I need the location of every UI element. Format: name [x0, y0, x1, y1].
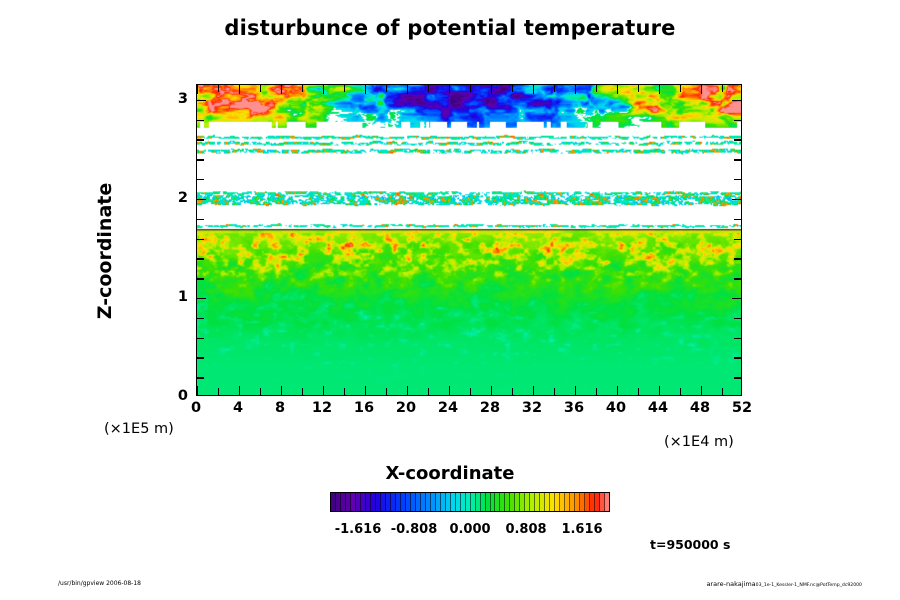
axis-tick	[365, 85, 366, 94]
axis-tick	[701, 386, 702, 395]
axis-tick	[680, 85, 681, 92]
axis-tick	[734, 139, 741, 140]
x-tick-label: 0	[191, 400, 201, 416]
footer-right-detail: 03_1e-1_Kessler-1_NMF.nc@PotTemp_dc92000	[756, 583, 862, 588]
axis-tick	[449, 386, 450, 395]
axis-tick	[323, 386, 324, 395]
axis-tick	[197, 338, 204, 339]
x-tick-label: 44	[648, 400, 668, 416]
heatmap-canvas	[197, 85, 741, 395]
axis-tick	[734, 239, 741, 240]
colorbar-tick-label: 1.616	[561, 522, 602, 537]
footer-right-main: arare-nakajima	[706, 580, 755, 588]
y-axis-unit-note: (×1E5 m)	[104, 421, 174, 437]
axis-tick	[734, 179, 741, 180]
axis-tick	[197, 258, 204, 259]
x-tick-label: 52	[732, 400, 752, 416]
axis-tick	[659, 85, 660, 94]
axis-tick	[680, 388, 681, 395]
axis-tick	[734, 278, 741, 279]
footer-left-text: /usr/bin/gpview 2006-08-18	[58, 580, 141, 587]
colorbar	[330, 492, 610, 512]
axis-tick	[386, 388, 387, 395]
axis-tick	[638, 388, 639, 395]
y-tick-label: 3	[170, 91, 188, 107]
x-tick-label: 12	[312, 400, 332, 416]
axis-tick	[734, 258, 741, 259]
axis-tick	[554, 388, 555, 395]
axis-tick	[365, 386, 366, 395]
axis-tick	[722, 85, 723, 92]
axis-tick	[281, 85, 282, 94]
axis-tick	[239, 386, 240, 395]
axis-tick	[533, 386, 534, 395]
axis-tick	[218, 388, 219, 395]
axis-tick	[732, 298, 741, 299]
x-axis-title: X-coordinate	[0, 463, 900, 484]
axis-tick	[575, 386, 576, 395]
axis-tick	[197, 239, 204, 240]
timestamp-label: t=950000 s	[650, 537, 730, 552]
axis-tick	[596, 388, 597, 395]
x-tick-label: 28	[480, 400, 500, 416]
axis-tick	[407, 85, 408, 94]
axis-tick	[197, 298, 206, 299]
axis-tick	[491, 85, 492, 94]
axis-tick	[281, 386, 282, 395]
axis-tick	[659, 386, 660, 395]
axis-tick	[428, 85, 429, 92]
axis-tick	[197, 120, 204, 121]
x-tick-label: 36	[564, 400, 584, 416]
axis-tick	[260, 388, 261, 395]
axis-tick	[197, 278, 204, 279]
x-tick-label: 48	[690, 400, 710, 416]
colorbar-tick-labels: -1.616-0.8080.0000.8081.616	[330, 522, 610, 542]
x-tick-label: 16	[354, 400, 374, 416]
colorbar-tick-label: 0.000	[449, 522, 490, 537]
page-title: disturbunce of potential temperature	[0, 16, 900, 40]
axis-tick	[302, 388, 303, 395]
axis-tick	[701, 85, 702, 94]
colorbar-strip	[330, 492, 610, 512]
axis-tick	[428, 388, 429, 395]
axis-tick	[512, 85, 513, 92]
colorbar-tick-label: 0.808	[505, 522, 546, 537]
axis-tick	[533, 85, 534, 94]
axis-tick	[197, 100, 206, 101]
axis-tick	[512, 388, 513, 395]
colorbar-tick-label: -0.808	[391, 522, 438, 537]
plot-area	[196, 84, 742, 396]
axis-tick	[323, 85, 324, 94]
axis-tick	[734, 377, 741, 378]
axis-tick	[617, 386, 618, 395]
axis-tick	[734, 338, 741, 339]
axis-tick	[386, 85, 387, 92]
axis-tick	[344, 85, 345, 92]
x-tick-label: 4	[233, 400, 243, 416]
axis-tick	[197, 199, 206, 200]
axis-tick	[197, 159, 204, 160]
axis-tick	[722, 388, 723, 395]
x-axis-unit-note: (×1E4 m)	[664, 434, 734, 450]
axis-tick	[239, 85, 240, 94]
axis-tick	[732, 199, 741, 200]
x-tick-label: 32	[522, 400, 542, 416]
axis-tick	[197, 318, 204, 319]
axis-tick	[218, 85, 219, 92]
axis-tick	[617, 85, 618, 94]
axis-tick	[197, 179, 204, 180]
axis-tick	[734, 357, 741, 358]
axis-tick	[732, 100, 741, 101]
axis-tick	[197, 377, 204, 378]
y-tick-label: 1	[170, 289, 188, 305]
axis-tick	[260, 85, 261, 92]
axis-tick	[734, 159, 741, 160]
axis-tick	[638, 85, 639, 92]
axis-tick	[575, 85, 576, 94]
x-tick-label: 20	[396, 400, 416, 416]
axis-tick	[197, 386, 198, 395]
footer-right-text: arare-nakajima03_1e-1_Kessler-1_NMF.nc@P…	[706, 580, 862, 588]
y-tick-label: 0	[170, 388, 188, 404]
axis-tick	[596, 85, 597, 92]
axis-tick	[197, 85, 198, 94]
axis-tick	[470, 388, 471, 395]
axis-tick	[197, 357, 204, 358]
axis-tick	[734, 120, 741, 121]
x-tick-label: 8	[275, 400, 285, 416]
y-axis-title: Z-coordinate	[94, 141, 116, 361]
axis-tick	[197, 139, 204, 140]
axis-tick	[197, 219, 204, 220]
y-tick-label: 2	[170, 190, 188, 206]
axis-tick	[734, 318, 741, 319]
axis-tick	[302, 85, 303, 92]
axis-tick	[449, 85, 450, 94]
axis-tick	[344, 388, 345, 395]
axis-tick	[407, 386, 408, 395]
axis-tick	[734, 219, 741, 220]
colorbar-band	[605, 493, 609, 511]
figure-root: disturbunce of potential temperature 048…	[0, 0, 900, 600]
axis-tick	[470, 85, 471, 92]
axis-tick	[491, 386, 492, 395]
x-tick-label: 40	[606, 400, 626, 416]
axis-tick	[554, 85, 555, 92]
colorbar-tick-label: -1.616	[335, 522, 382, 537]
x-tick-label: 24	[438, 400, 458, 416]
